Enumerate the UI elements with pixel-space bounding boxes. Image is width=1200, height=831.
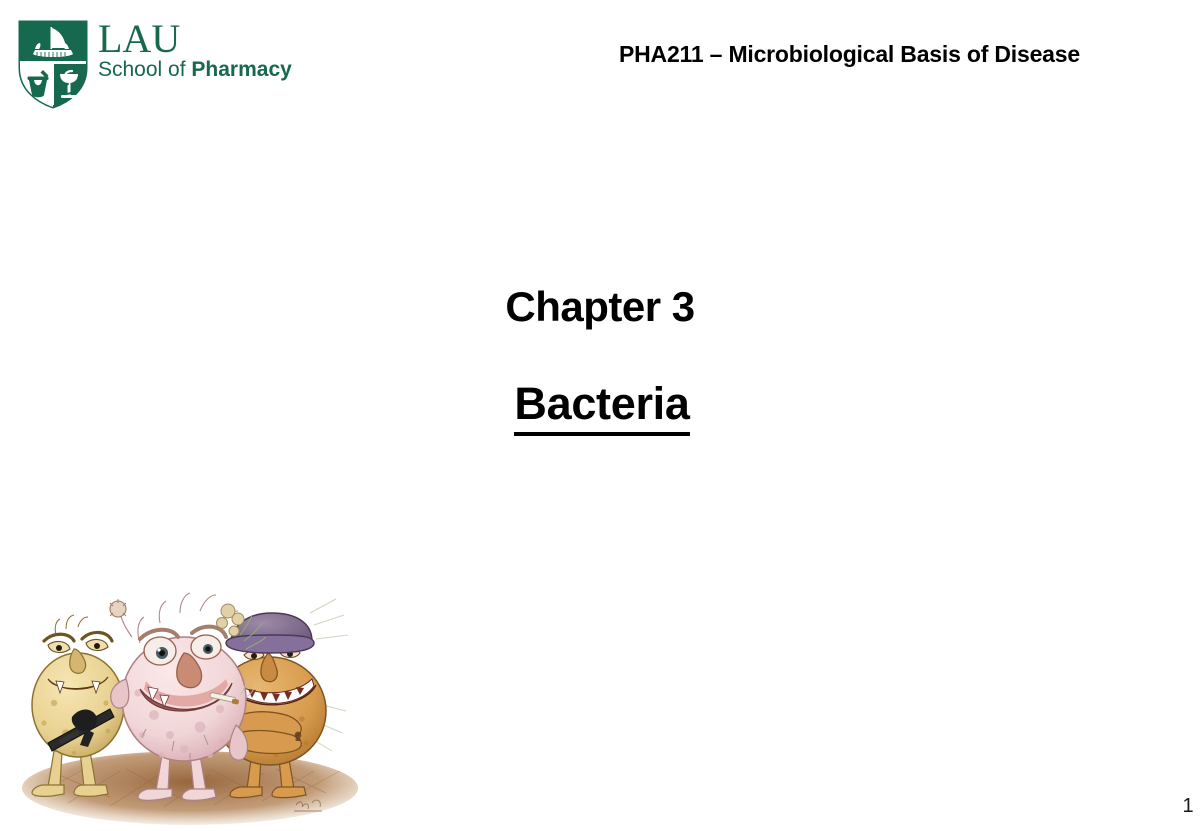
lau-school-of-pharmacy-logo: LAU School of Pharmacy [16,18,292,115]
wordmark-pharmacy: Pharmacy [191,58,291,81]
three-cartoon-germ-characters-illustration [14,583,362,831]
slide-canvas: LAU School of Pharmacy PHA211 – Microbio… [0,0,1200,831]
chapter-title: Chapter 3 [0,283,1200,331]
subject-title-text: Bacteria [514,378,689,436]
page-number: 1 [1180,795,1196,818]
spore-antenna-left [110,599,132,637]
subject-title: Bacteria [0,378,1200,436]
lau-wordmark: LAU School of Pharmacy [98,18,292,81]
lau-shield-icon [16,18,90,115]
wordmark-school-of: School of [98,58,191,81]
lau-wordmark-secondary: School of Pharmacy [98,59,292,81]
chapter-title-text: Chapter 3 [505,283,694,331]
skull-tattoo [295,732,302,741]
lau-wordmark-primary: LAU [98,20,292,58]
course-title: PHA211 – Microbiological Basis of Diseas… [619,41,1080,68]
